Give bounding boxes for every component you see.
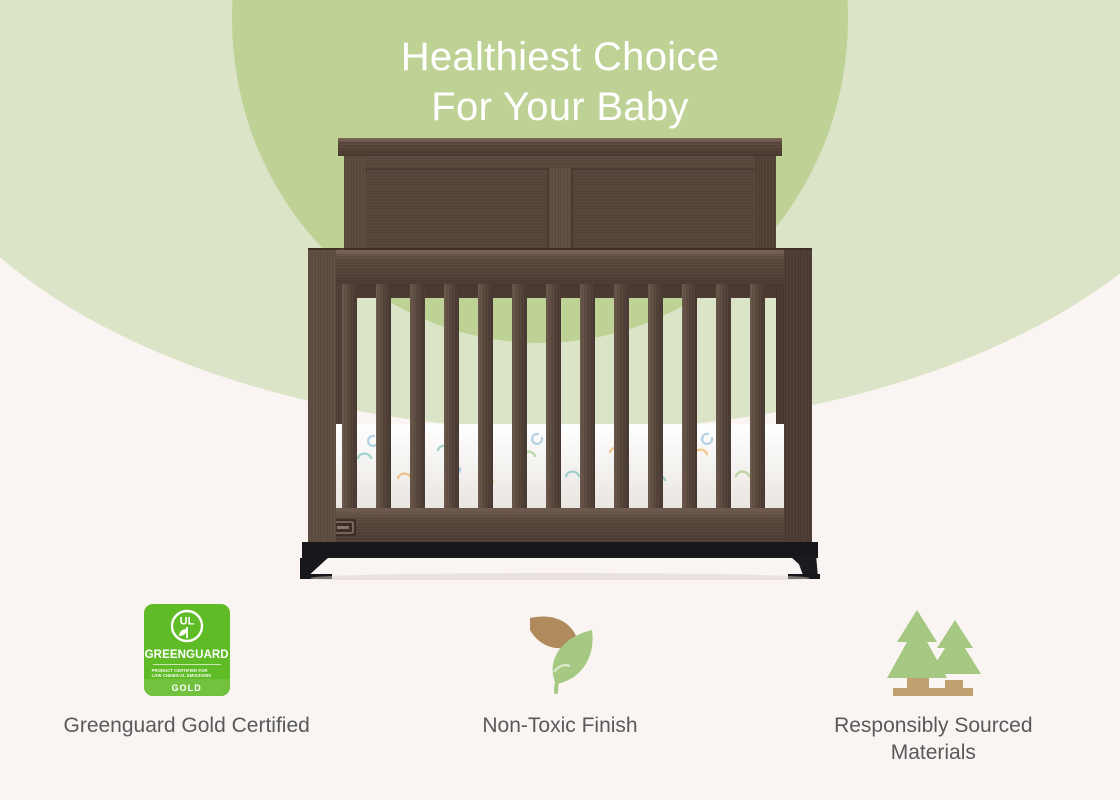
svg-text:UL: UL [179,616,194,628]
crib-product-image [280,138,840,580]
caption-line-2: Certified [232,714,310,737]
crib-illustration [280,138,840,580]
crib-ground-shadow [310,573,810,580]
crib-bottom-rail [308,508,812,544]
feature-caption-responsibly-sourced: Responsibly Sourced Materials [803,712,1063,766]
crib-top-rail [308,250,812,284]
two-leaves-icon [512,600,608,700]
headline-line-2: For Your Baby [0,82,1120,132]
feature-greenguard: UL GREENGUARD PRODUCT CERTIFIED FOR LOW … [0,600,373,780]
badge-divider [153,664,221,665]
feature-caption-greenguard: Greenguard Gold Certified [64,712,310,739]
greenguard-gold-badge-icon: UL GREENGUARD PRODUCT CERTIFIED FOR LOW … [144,600,230,700]
caption-line-1: Responsibly [834,714,948,737]
headline-line-1: Healthiest Choice [401,35,720,79]
feature-non-toxic: Non-Toxic Finish [373,600,746,780]
marketing-banner: Healthiest Choice For Your Baby [0,0,1120,800]
caption-line-1: Greenguard Gold [64,714,226,737]
feature-responsibly-sourced: Responsibly Sourced Materials [747,600,1120,780]
feature-caption-non-toxic: Non-Toxic Finish [482,712,637,739]
front-pine-tree [887,610,947,678]
caption-line-1: Non-Toxic Finish [482,714,637,737]
ul-mark-icon: UL [170,609,204,648]
pine-trees-and-logs-icon [877,600,989,700]
crib-headboard [338,138,782,262]
badge-tier-band: GOLD [144,679,230,696]
feature-strip: UL GREENGUARD PRODUCT CERTIFIED FOR LOW … [0,600,1120,780]
cut-logs [893,678,973,696]
headline: Healthiest Choice For Your Baby [0,32,1120,132]
greenguard-wordmark: GREENGUARD [145,649,229,661]
